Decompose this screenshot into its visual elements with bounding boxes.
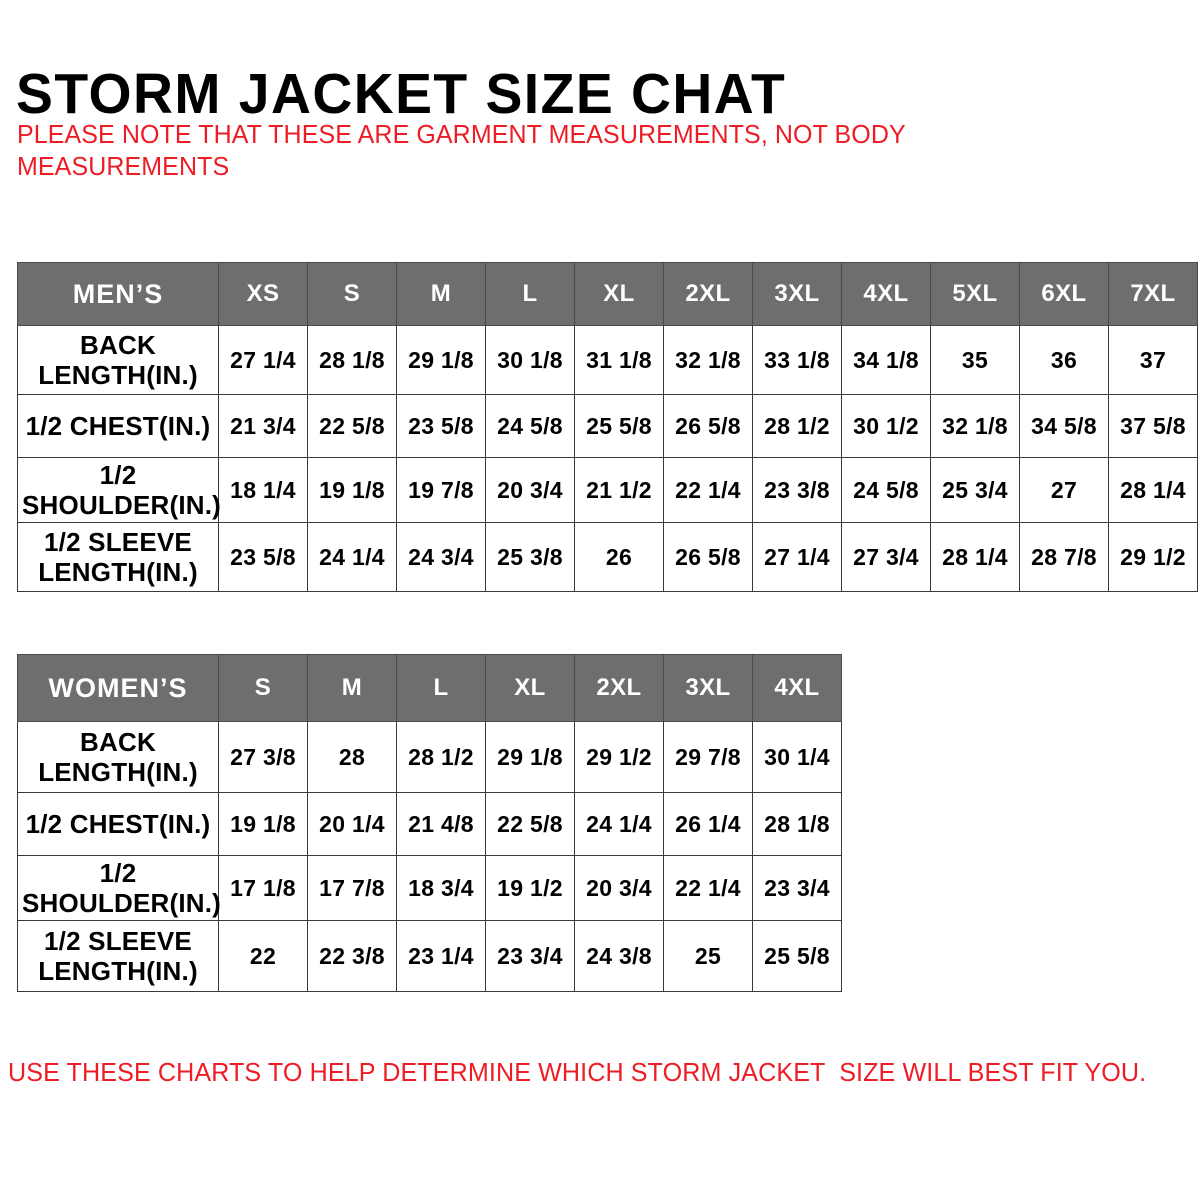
- garment-measurement-note: PLEASE NOTE THAT THESE ARE GARMENT MEASU…: [17, 119, 958, 183]
- measurement-cell: 22 1/4: [664, 856, 753, 921]
- measurement-cell: 26 5/8: [664, 395, 753, 458]
- measurement-cell: 19 1/2: [486, 856, 575, 921]
- measurement-cell: 27: [1020, 458, 1109, 523]
- mens-size-header-m: M: [397, 263, 486, 326]
- measurement-cell: 24 5/8: [842, 458, 931, 523]
- womens-size-header-m: M: [308, 655, 397, 722]
- measurement-cell: 21 3/4: [219, 395, 308, 458]
- measurement-cell: 27 1/4: [219, 326, 308, 395]
- mens-table-body: BACKLENGTH(IN.)27 1/428 1/829 1/830 1/83…: [18, 326, 1198, 592]
- row-label-line: 1/2 SLEEVE: [44, 926, 192, 956]
- measurement-cell: 22 3/8: [308, 921, 397, 992]
- measurement-cell: 24 3/4: [397, 523, 486, 592]
- mens-header-row: MEN’SXSSMLXL2XL3XL4XL5XL6XL7XL: [18, 263, 1198, 326]
- measurement-cell: 23 5/8: [219, 523, 308, 592]
- measurement-cell: 25 3/4: [931, 458, 1020, 523]
- row-label-line: LENGTH(IN.): [38, 956, 198, 986]
- womens-table-body: BACKLENGTH(IN.)27 3/82828 1/229 1/829 1/…: [18, 722, 842, 992]
- measurement-cell: 21 1/2: [575, 458, 664, 523]
- measurement-cell: 28 1/4: [931, 523, 1020, 592]
- womens-category-header: WOMEN’S: [18, 655, 219, 722]
- table-row: 1/2 SLEEVELENGTH(IN.)2222 3/823 1/423 3/…: [18, 921, 842, 992]
- mens-size-header-3xl: 3XL: [753, 263, 842, 326]
- measurement-cell: 22: [219, 921, 308, 992]
- table-row: 1/2 SLEEVELENGTH(IN.)23 5/824 1/424 3/42…: [18, 523, 1198, 592]
- measurement-cell: 18 1/4: [219, 458, 308, 523]
- measurement-cell: 17 7/8: [308, 856, 397, 921]
- measurement-cell: 24 3/8: [575, 921, 664, 992]
- row-label-line: 1/2 SLEEVE: [44, 527, 192, 557]
- measurement-cell: 27 3/4: [842, 523, 931, 592]
- mens-row-label: BACKLENGTH(IN.): [18, 326, 219, 395]
- womens-size-header-l: L: [397, 655, 486, 722]
- mens-category-header: MEN’S: [18, 263, 219, 326]
- measurement-cell: 20 1/4: [308, 793, 397, 856]
- womens-table-header: WOMEN’SSMLXL2XL3XL4XL: [18, 655, 842, 722]
- mens-size-header-s: S: [308, 263, 397, 326]
- womens-size-header-xl: XL: [486, 655, 575, 722]
- measurement-cell: 30 1/4: [753, 722, 842, 793]
- measurement-cell: 25 5/8: [575, 395, 664, 458]
- womens-header-row: WOMEN’SSMLXL2XL3XL4XL: [18, 655, 842, 722]
- measurement-cell: 20 3/4: [575, 856, 664, 921]
- measurement-cell: 31 1/8: [575, 326, 664, 395]
- measurement-cell: 22 5/8: [486, 793, 575, 856]
- womens-size-header-3xl: 3XL: [664, 655, 753, 722]
- mens-row-label: 1/2 SLEEVELENGTH(IN.): [18, 523, 219, 592]
- womens-row-label: 1/2 SLEEVELENGTH(IN.): [18, 921, 219, 992]
- table-row: 1/2 CHEST(IN.)19 1/820 1/421 4/822 5/824…: [18, 793, 842, 856]
- measurement-cell: 21 4/8: [397, 793, 486, 856]
- measurement-cell: 37: [1109, 326, 1198, 395]
- row-label-line: LENGTH(IN.): [38, 757, 198, 787]
- womens-row-label: BACKLENGTH(IN.): [18, 722, 219, 793]
- measurement-cell: 28 1/2: [753, 395, 842, 458]
- measurement-cell: 23 1/4: [397, 921, 486, 992]
- measurement-cell: 17 1/8: [219, 856, 308, 921]
- womens-size-header-s: S: [219, 655, 308, 722]
- measurement-cell: 29 1/8: [486, 722, 575, 793]
- row-label-line: 1/2 CHEST(IN.): [26, 809, 211, 839]
- measurement-cell: 24 1/4: [308, 523, 397, 592]
- size-chart-page: STORM JACKET SIZE CHAT PLEASE NOTE THAT …: [0, 0, 1200, 1200]
- measurement-cell: 28 1/4: [1109, 458, 1198, 523]
- measurement-cell: 32 1/8: [931, 395, 1020, 458]
- measurement-cell: 34 1/8: [842, 326, 931, 395]
- mens-row-label: 1/2 SHOULDER(IN.): [18, 458, 219, 523]
- measurement-cell: 24 5/8: [486, 395, 575, 458]
- measurement-cell: 37 5/8: [1109, 395, 1198, 458]
- mens-size-header-7xl: 7XL: [1109, 263, 1198, 326]
- measurement-cell: 29 1/8: [397, 326, 486, 395]
- measurement-cell: 20 3/4: [486, 458, 575, 523]
- measurement-cell: 29 1/2: [1109, 523, 1198, 592]
- mens-size-table: MEN’SXSSMLXL2XL3XL4XL5XL6XL7XL BACKLENGT…: [17, 262, 1198, 592]
- womens-row-label: 1/2 CHEST(IN.): [18, 793, 219, 856]
- womens-size-header-4xl: 4XL: [753, 655, 842, 722]
- mens-size-header-l: L: [486, 263, 575, 326]
- page-title: STORM JACKET SIZE CHAT: [16, 64, 786, 124]
- measurement-cell: 19 1/8: [219, 793, 308, 856]
- womens-row-label: 1/2 SHOULDER(IN.): [18, 856, 219, 921]
- measurement-cell: 26 5/8: [664, 523, 753, 592]
- row-label-line: BACK: [80, 330, 156, 360]
- measurement-cell: 36: [1020, 326, 1109, 395]
- measurement-cell: 27 3/8: [219, 722, 308, 793]
- measurement-cell: 28 1/8: [308, 326, 397, 395]
- measurement-cell: 28 1/8: [753, 793, 842, 856]
- mens-size-header-5xl: 5XL: [931, 263, 1020, 326]
- row-label-line: LENGTH(IN.): [38, 360, 198, 390]
- measurement-cell: 35: [931, 326, 1020, 395]
- table-row: BACKLENGTH(IN.)27 1/428 1/829 1/830 1/83…: [18, 326, 1198, 395]
- measurement-cell: 22 1/4: [664, 458, 753, 523]
- measurement-cell: 26: [575, 523, 664, 592]
- measurement-cell: 23 3/4: [753, 856, 842, 921]
- mens-size-header-2xl: 2XL: [664, 263, 753, 326]
- measurement-cell: 29 1/2: [575, 722, 664, 793]
- measurement-cell: 33 1/8: [753, 326, 842, 395]
- mens-size-header-6xl: 6XL: [1020, 263, 1109, 326]
- measurement-cell: 18 3/4: [397, 856, 486, 921]
- row-label-line: 1/2 SHOULDER(IN.): [22, 858, 221, 918]
- mens-size-header-xs: XS: [219, 263, 308, 326]
- measurement-cell: 28 1/2: [397, 722, 486, 793]
- row-label-line: LENGTH(IN.): [38, 557, 198, 587]
- mens-size-header-xl: XL: [575, 263, 664, 326]
- mens-size-header-4xl: 4XL: [842, 263, 931, 326]
- measurement-cell: 19 1/8: [308, 458, 397, 523]
- measurement-cell: 29 7/8: [664, 722, 753, 793]
- measurement-cell: 25: [664, 921, 753, 992]
- table-row: 1/2 SHOULDER(IN.)17 1/817 7/818 3/419 1/…: [18, 856, 842, 921]
- measurement-cell: 23 3/8: [753, 458, 842, 523]
- table-row: 1/2 SHOULDER(IN.)18 1/419 1/819 7/820 3/…: [18, 458, 1198, 523]
- measurement-cell: 28: [308, 722, 397, 793]
- table-row: 1/2 CHEST(IN.)21 3/422 5/823 5/824 5/825…: [18, 395, 1198, 458]
- measurement-cell: 23 5/8: [397, 395, 486, 458]
- mens-row-label: 1/2 CHEST(IN.): [18, 395, 219, 458]
- measurement-cell: 28 7/8: [1020, 523, 1109, 592]
- measurement-cell: 26 1/4: [664, 793, 753, 856]
- measurement-cell: 22 5/8: [308, 395, 397, 458]
- measurement-cell: 30 1/8: [486, 326, 575, 395]
- measurement-cell: 25 5/8: [753, 921, 842, 992]
- measurement-cell: 30 1/2: [842, 395, 931, 458]
- row-label-line: 1/2 SHOULDER(IN.): [22, 460, 221, 520]
- womens-size-table: WOMEN’SSMLXL2XL3XL4XL BACKLENGTH(IN.)27 …: [17, 654, 842, 992]
- table-row: BACKLENGTH(IN.)27 3/82828 1/229 1/829 1/…: [18, 722, 842, 793]
- row-label-line: BACK: [80, 727, 156, 757]
- measurement-cell: 27 1/4: [753, 523, 842, 592]
- measurement-cell: 19 7/8: [397, 458, 486, 523]
- help-determine-size-note: USE THESE CHARTS TO HELP DETERMINE WHICH…: [8, 1058, 1151, 1088]
- measurement-cell: 32 1/8: [664, 326, 753, 395]
- womens-size-header-2xl: 2XL: [575, 655, 664, 722]
- measurement-cell: 34 5/8: [1020, 395, 1109, 458]
- row-label-line: 1/2 CHEST(IN.): [26, 411, 211, 441]
- measurement-cell: 24 1/4: [575, 793, 664, 856]
- measurement-cell: 25 3/8: [486, 523, 575, 592]
- measurement-cell: 23 3/4: [486, 921, 575, 992]
- mens-table-header: MEN’SXSSMLXL2XL3XL4XL5XL6XL7XL: [18, 263, 1198, 326]
